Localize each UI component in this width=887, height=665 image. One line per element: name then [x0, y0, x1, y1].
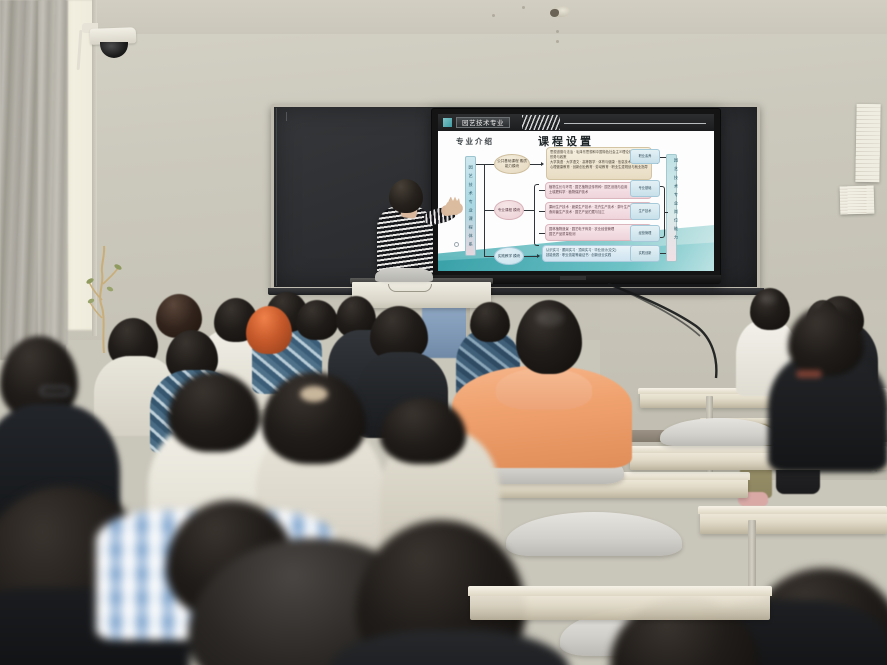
slide-left-bar: 园 艺 技 术 专 业 课 程 体 系 [465, 156, 476, 256]
presentation-slide: 园艺技术专业 专业介绍 课程设置 园 艺 技 术 专 业 课 程 体 系 园 艺… [438, 114, 714, 271]
slide-side-box-1: 职业素养 [630, 149, 660, 164]
presenter-head [389, 179, 423, 213]
desk-edge [698, 506, 887, 514]
slide-side-box-2: 专业基础 [630, 180, 660, 197]
slide-node-2: 专业课程 模块 [494, 200, 524, 220]
student-head [296, 300, 338, 340]
ceiling-mark [522, 6, 525, 9]
slide-connector [660, 253, 666, 254]
presenter-hand [443, 196, 463, 218]
ceiling-mark [556, 30, 559, 33]
slide-brace [534, 184, 539, 246]
slide-right-bar: 园 艺 技 术 专 业 岗 位 能 力 [666, 154, 677, 262]
student-head [470, 302, 510, 342]
hair-tie [300, 386, 328, 402]
slide-node-1: 公共基础课程 素质能力模块 [494, 154, 530, 174]
desk-edge [468, 586, 772, 596]
ceiling-mark [556, 40, 559, 43]
display-screen[interactable]: 园艺技术专业 专业介绍 课程设置 园 艺 技 术 专 业 课 程 体 系 园 艺… [438, 114, 714, 271]
slide-connector [484, 256, 494, 257]
slide-connector [484, 164, 494, 165]
chair-back [506, 512, 682, 556]
slide-tag-label: 园艺技术专业 [456, 117, 510, 128]
hair-highlight [760, 294, 776, 304]
ceiling-fixture-shadow [550, 9, 559, 17]
glasses-icon [40, 386, 70, 396]
blackboard-seam [276, 108, 277, 286]
desk-foreground [470, 594, 770, 620]
slide-connector [524, 256, 538, 257]
slide-side-box-5: 实践创新 [630, 245, 660, 262]
student-head-orange-hair [246, 306, 292, 354]
slide-connector [665, 212, 668, 213]
slide-connector [524, 210, 534, 211]
slide-side-box-4: 经营管理 [630, 225, 660, 242]
jacket-hood [496, 368, 592, 410]
slide-arrow [541, 162, 544, 166]
slide-node-3: 实践教学 模块 [494, 247, 524, 265]
necklace [796, 370, 822, 378]
desk-middle-right-2 [700, 512, 887, 534]
slide-side-box-3: 生产技术 [630, 203, 660, 220]
display-brand-logo [560, 276, 586, 280]
slide-header-square [443, 118, 452, 127]
slide-arrow [537, 254, 540, 258]
hair-highlight [536, 310, 564, 326]
slide-header-rule [564, 123, 706, 124]
presenter-lower-body [375, 268, 433, 282]
slide-left-bar-text: 园 艺 技 术 专 业 课 程 体 系 [468, 165, 472, 248]
curtain-fold [38, 0, 68, 345]
slide-hatch-decor [522, 115, 560, 130]
notice-paper [855, 104, 880, 182]
blackboard-chalk-mark [286, 112, 287, 121]
slide-section-label: 专业介绍 [456, 136, 494, 147]
ceiling-mark [492, 14, 495, 17]
classroom-photo: 园艺技术专业 专业介绍 课程设置 园 艺 技 术 专 业 课 程 体 系 园 艺… [0, 0, 887, 665]
slide-connector [660, 157, 666, 158]
notice-paper [840, 186, 875, 215]
slide-right-bar-text: 园 艺 技 术 专 业 岗 位 能 力 [667, 158, 678, 241]
slide-connector [476, 164, 484, 165]
slide-connector [484, 210, 494, 211]
slide-bullet-dot [454, 242, 459, 247]
lectern-handle [388, 284, 432, 292]
